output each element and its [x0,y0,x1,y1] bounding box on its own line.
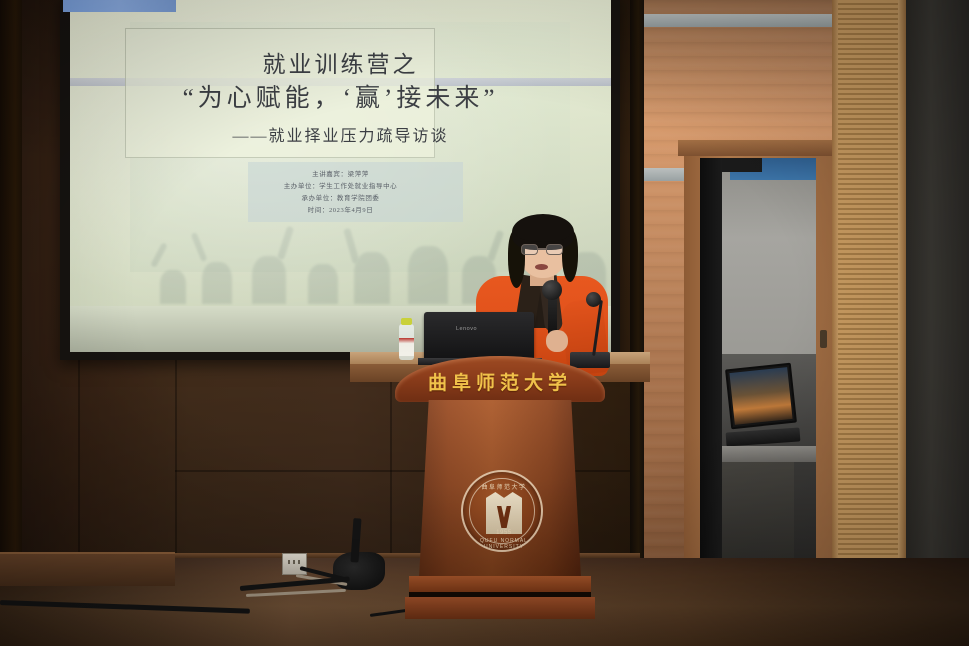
bottle-label [399,338,414,356]
slide-credit-organizer: 主办单位：学生工作处就业指导中心 [70,180,611,190]
stage-step [0,552,175,586]
eyeglasses-lens-left [521,244,538,255]
slatted-wood-pilaster [838,0,900,580]
lectern-plinth-lower [405,597,595,619]
slide-blue-accent-bar [63,0,176,12]
right-dark-wall [906,0,969,585]
door-panel[interactable] [700,158,722,580]
wall-gray-stripe [636,14,846,27]
laptop[interactable] [424,312,534,360]
computer-monitor [725,363,797,430]
mouth [535,264,548,270]
slide-title-line-3: ——就业择业压力疏导访谈 [70,122,611,146]
left-dark-pillar [0,0,22,646]
lectern-university-name: 曲阜师范大学 [395,368,605,395]
gooseneck-mic-head [586,292,601,307]
monitor-screen [729,367,792,425]
slide-title-line-1: 就业训练营之 [70,45,611,79]
door-handle[interactable] [820,330,827,348]
wall-panel-seam [175,360,177,560]
lectern: 曲阜师范大学 曲阜师范大学 1955 QUFU NORMAL UNIVERSIT… [395,356,605,616]
eyeglasses-lens-right [546,244,563,255]
slide-credit-coorganizer: 承办单位：教育学院团委 [70,192,611,202]
laptop-brand-label: Lenovo [456,326,477,332]
corridor-wall [722,158,816,358]
emblem-founding-year: 1955 [463,530,545,536]
bottle-cap [401,318,412,325]
emblem-chinese-name: 曲阜师范大学 [463,482,545,491]
auditorium-photo: 就业训练营之 “为心赋能，‘赢’接未来” ——就业择业压力疏导访谈 主讲嘉宾：梁… [0,0,969,646]
corridor-ceiling-shadow [722,158,762,172]
lectern-plinth-upper [409,576,591,592]
speaker-hand [546,330,568,352]
eyeglasses-bridge [538,248,546,250]
doorway-opening [700,158,816,580]
slide-credit-speaker: 主讲嘉宾：梁萍萍 [70,168,611,178]
handheld-microphone-head [542,280,562,300]
wall-outlet-sockets [288,560,301,564]
wall-panel-seam [390,360,392,560]
wall-divider-pillar [630,0,644,580]
water-bottle[interactable] [398,318,415,360]
emblem-english-name: QUFU NORMAL UNIVERSITY [463,538,545,550]
slide-title-line-2: “为心赋能，‘赢’接未来” [70,78,611,114]
control-desk-top [722,446,816,462]
hair-bangs [516,226,570,242]
wall-outlet-box[interactable] [282,553,307,575]
university-emblem: 曲阜师范大学 1955 QUFU NORMAL UNIVERSITY [461,470,543,552]
doorway-lintel [678,140,838,156]
slide-credit-date: 时间：2023年4月9日 [70,204,611,214]
